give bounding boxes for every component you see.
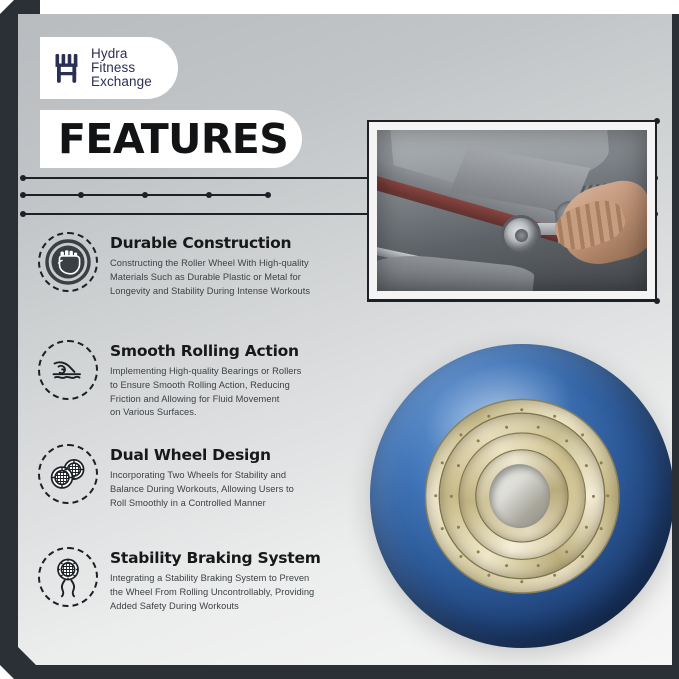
- blue-roller-wheel-bearing-photo: [370, 344, 672, 648]
- photo-image: [377, 130, 647, 291]
- feature-title: Dual Wheel Design: [110, 446, 294, 464]
- feature-body: Incorporating Two Wheels for Stability a…: [110, 469, 294, 510]
- brand-line-3: Exchange: [91, 75, 152, 89]
- page-title: FEATURES: [58, 115, 288, 163]
- infographic-canvas: Hydra Fitness Exchange FEATURES: [0, 0, 679, 679]
- feature-item-durable-construction: Durable Construction Constructing the Ro…: [38, 232, 368, 298]
- content-panel: Hydra Fitness Exchange FEATURES: [18, 14, 672, 665]
- connector-dot: [265, 192, 271, 198]
- feature-body: Constructing the Roller Wheel With High-…: [110, 257, 310, 298]
- feature-title: Stability Braking System: [110, 549, 321, 567]
- braking-wheel-icon: [38, 547, 98, 607]
- treadmill-roller-mechanism-photo: [367, 120, 657, 301]
- connector-dot: [142, 192, 148, 198]
- connector-dot: [20, 211, 26, 217]
- wheel-bore: [489, 464, 550, 528]
- brand-wordmark: Hydra Fitness Exchange: [91, 47, 152, 88]
- feature-item-stability-braking-system: Stability Braking System Integrating a S…: [38, 547, 368, 613]
- features-title-pill: FEATURES: [40, 110, 302, 168]
- brand-line-1: Hydra: [91, 47, 152, 61]
- frame-corner-white: [669, 0, 679, 10]
- trident-h-logo-icon: [54, 52, 84, 84]
- connector-dot: [206, 192, 212, 198]
- connector-dot: [78, 192, 84, 198]
- feature-body: Implementing High-quality Bearings or Ro…: [110, 365, 301, 420]
- feature-body: Integrating a Stability Braking System t…: [110, 572, 321, 613]
- raised-fist-icon: [38, 232, 98, 292]
- feature-title: Durable Construction: [110, 234, 310, 252]
- hand-wave-smooth-icon: [38, 340, 98, 400]
- feature-title: Smooth Rolling Action: [110, 342, 301, 360]
- feature-item-smooth-rolling-action: Smooth Rolling Action Implementing High-…: [38, 340, 368, 420]
- feature-item-dual-wheel-design: Dual Wheel Design Incorporating Two Whee…: [38, 444, 368, 510]
- connector-dot: [20, 192, 26, 198]
- frame-top-white-strip: [40, 0, 679, 14]
- brand-line-2: Fitness: [91, 61, 152, 75]
- brand-logo: Hydra Fitness Exchange: [40, 37, 178, 99]
- connector-dot: [20, 175, 26, 181]
- dual-wheels-icon: [38, 444, 98, 504]
